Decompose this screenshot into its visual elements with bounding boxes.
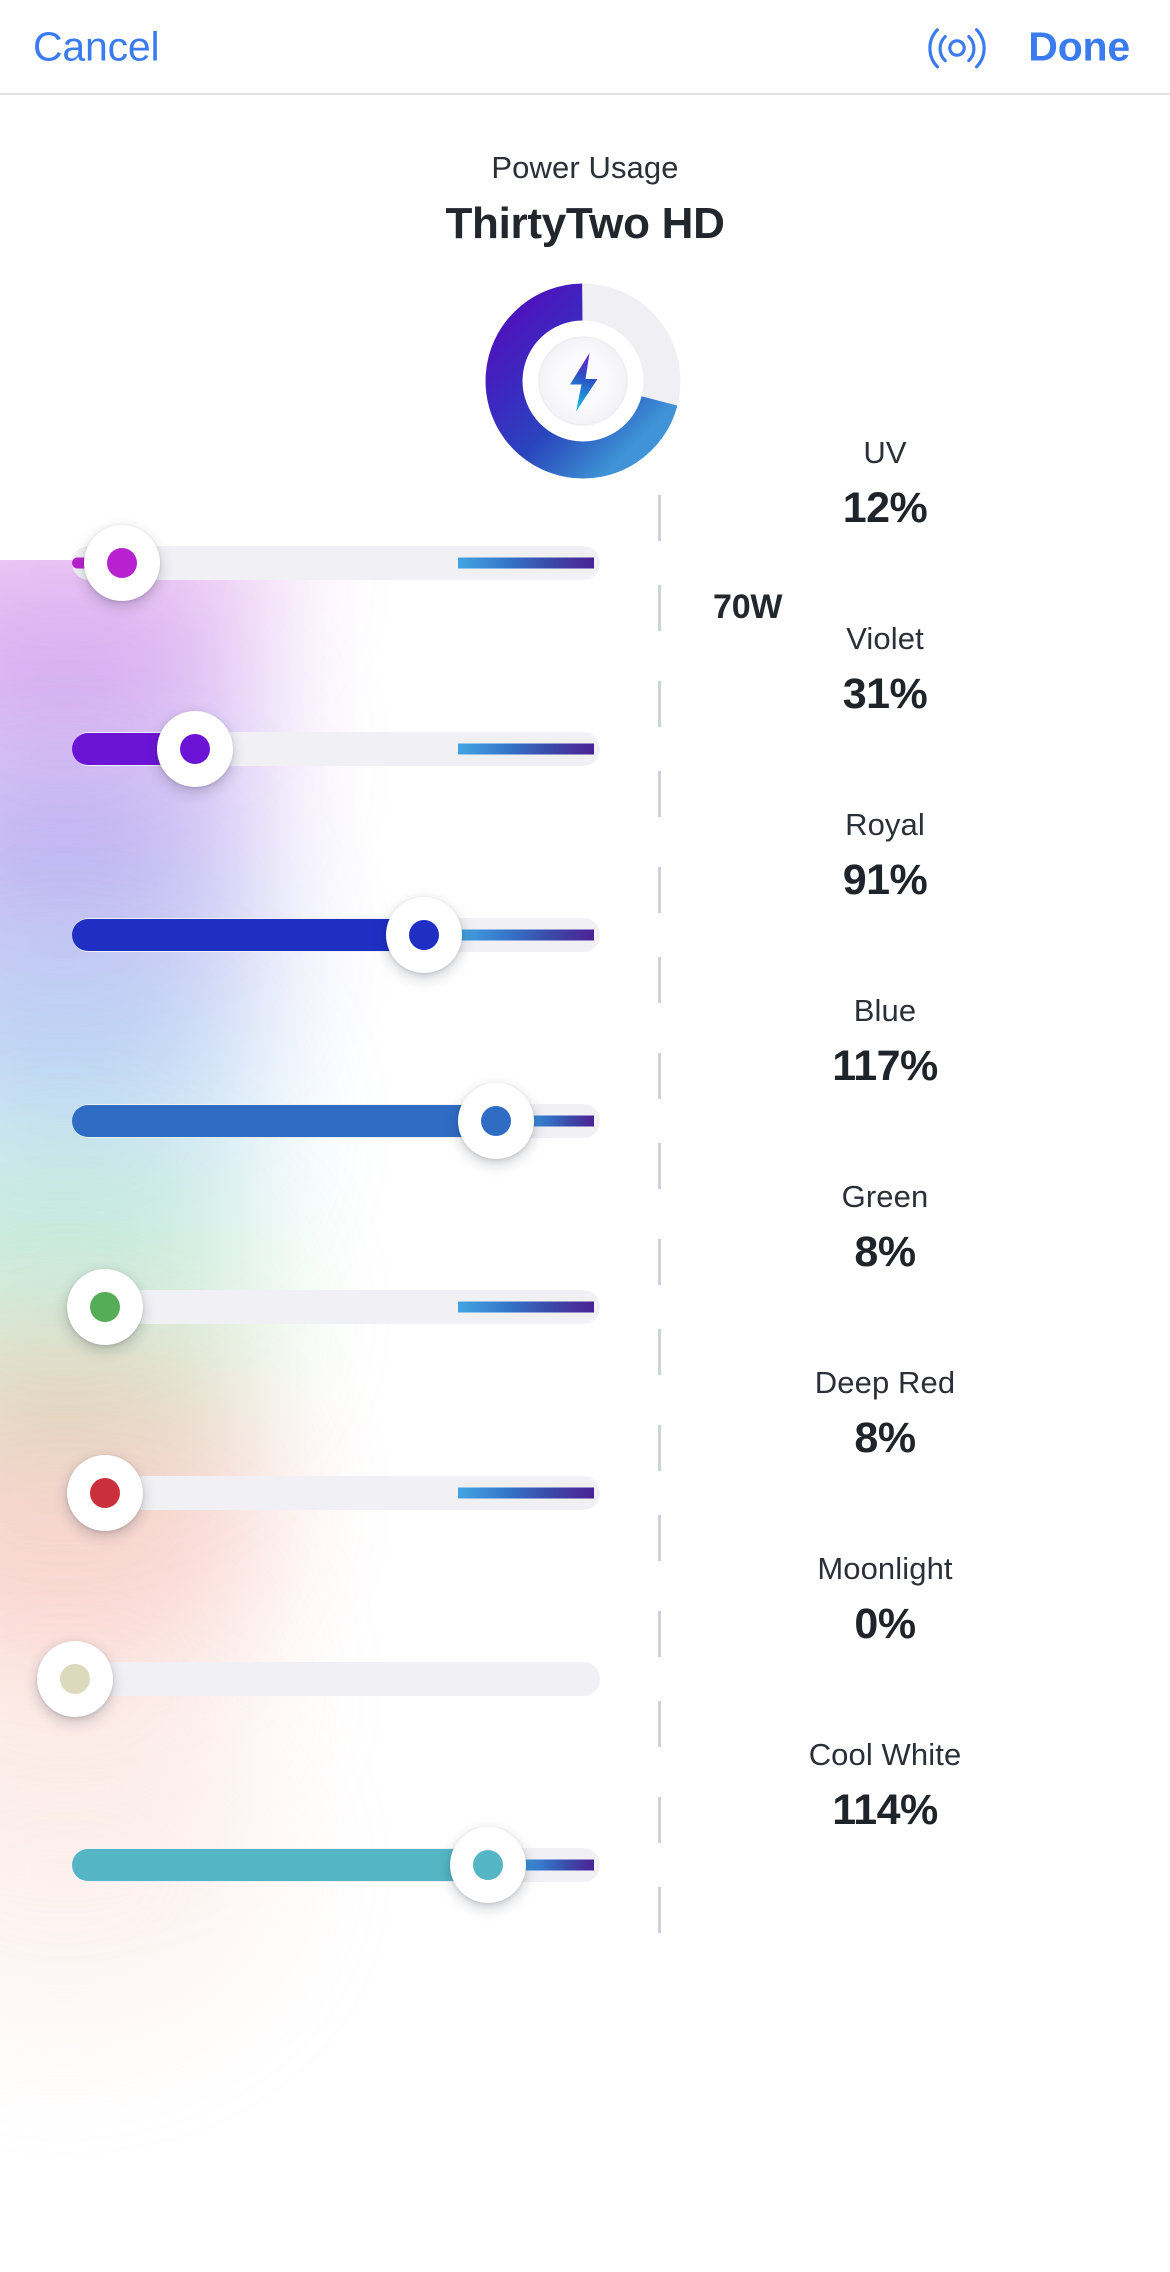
channel-value: 114% [600, 1786, 1170, 1835]
channel-name: Moonlight [600, 1551, 1170, 1587]
slider-overshoot-gradient [458, 1302, 594, 1313]
channel-name: Green [600, 1179, 1170, 1215]
slider-thumb[interactable] [157, 711, 233, 787]
slider-overshoot-gradient [514, 1860, 594, 1871]
channel-slider-row: UV12% [0, 490, 1170, 636]
slider-thumb[interactable] [84, 525, 160, 601]
slider-thumb[interactable] [450, 1827, 526, 1903]
channel-name: Cool White [600, 1737, 1170, 1773]
power-usage-screen: Cancel Done Power Usage ThirtyTwo HD [0, 0, 1170, 2272]
channel-value: 117% [600, 1042, 1170, 1091]
channel-slider-row: Blue117% [0, 1048, 1170, 1194]
slider-fill [72, 1105, 482, 1137]
channel-value: 91% [600, 856, 1170, 905]
slider-overshoot-gradient [458, 744, 594, 755]
slider-reference-tick [658, 1887, 661, 1933]
channel-name: Violet [600, 621, 1170, 657]
channel-slider-list: UV12%Violet31%Royal91%Blue117%Green8%Dee… [0, 0, 1170, 2272]
channel-value: 8% [600, 1414, 1170, 1463]
channel-name: Deep Red [600, 1365, 1170, 1401]
slider-fill [72, 919, 410, 951]
slider-thumb[interactable] [67, 1455, 143, 1531]
slider-thumb-dot [90, 1478, 120, 1508]
channel-slider-row: Royal91% [0, 862, 1170, 1008]
cancel-button[interactable]: Cancel [33, 23, 159, 70]
slider-thumb[interactable] [458, 1083, 534, 1159]
slider-thumb-dot [481, 1106, 511, 1136]
slider-fill [72, 1849, 474, 1881]
broadcast-waves-icon[interactable] [926, 16, 988, 78]
channel-slider-row: Deep Red8% [0, 1420, 1170, 1566]
slider-thumb-dot [409, 920, 439, 950]
channel-value: 12% [600, 484, 1170, 533]
done-button[interactable]: Done [1028, 23, 1130, 70]
channel-slider-row: Moonlight0% [0, 1606, 1170, 1752]
slider-thumb[interactable] [67, 1269, 143, 1345]
slider-thumb-dot [473, 1850, 503, 1880]
slider-overshoot-gradient [458, 930, 594, 941]
channel-name: Royal [600, 807, 1170, 843]
slider-thumb[interactable] [37, 1641, 113, 1717]
navigation-bar: Cancel Done [0, 0, 1170, 95]
slider-thumb-dot [90, 1292, 120, 1322]
channel-value: 31% [600, 670, 1170, 719]
channel-name: Blue [600, 993, 1170, 1029]
slider-overshoot-gradient [458, 1488, 594, 1499]
slider-thumb-dot [180, 734, 210, 764]
channel-value: 8% [600, 1228, 1170, 1277]
slider-track[interactable] [72, 1662, 600, 1696]
channel-slider-row: Cool White114% [0, 1792, 1170, 1938]
slider-thumb[interactable] [386, 897, 462, 973]
channel-name: UV [600, 435, 1170, 471]
slider-thumb-dot [60, 1664, 90, 1694]
channel-value: 0% [600, 1600, 1170, 1649]
channel-slider-row: Green8% [0, 1234, 1170, 1380]
slider-thumb-dot [107, 548, 137, 578]
channel-slider-row: Violet31% [0, 676, 1170, 822]
slider-overshoot-gradient [458, 558, 594, 569]
